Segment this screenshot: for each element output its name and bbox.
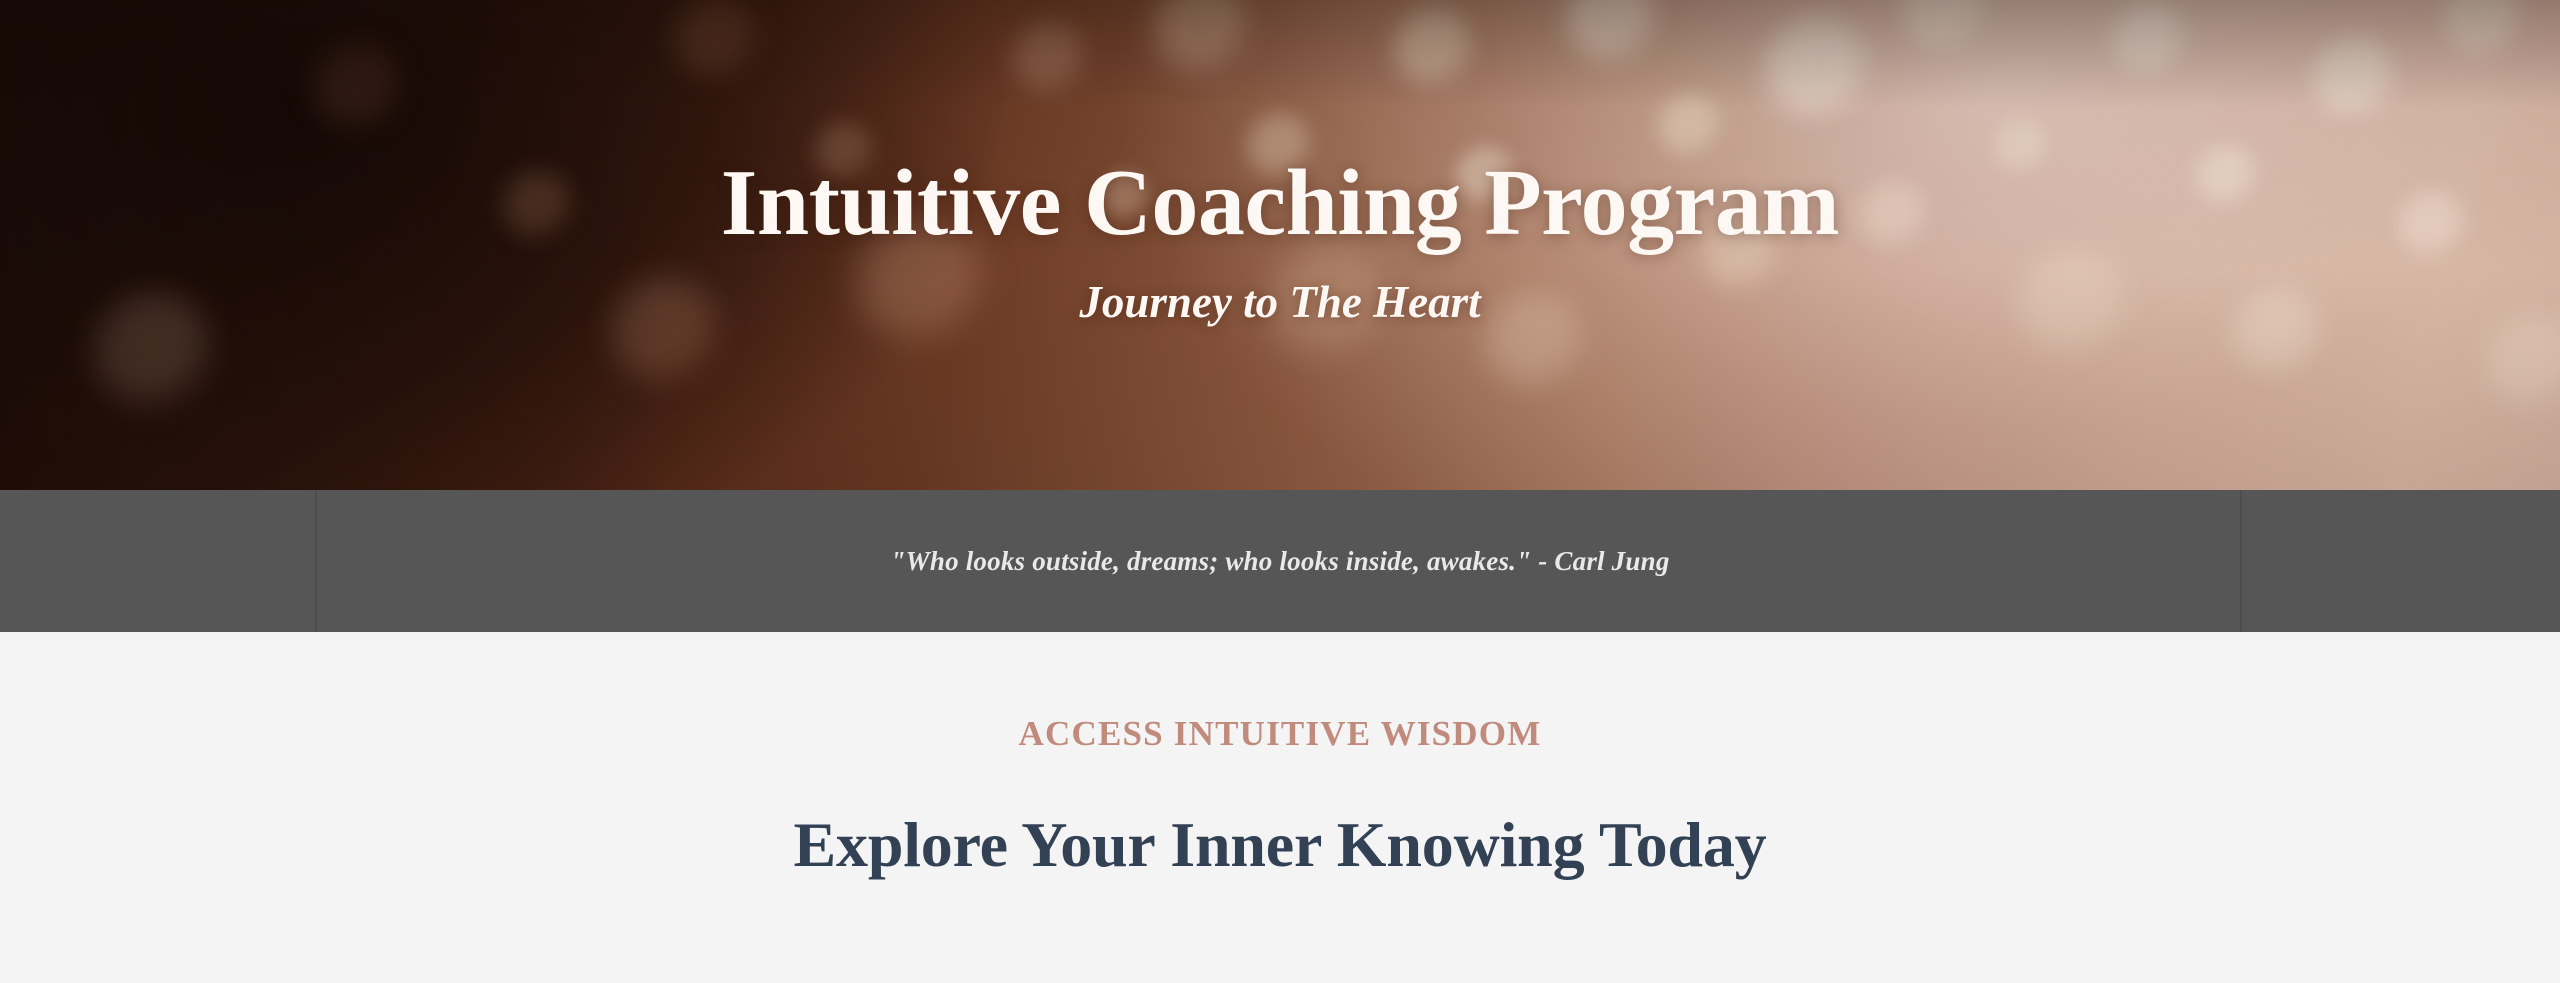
page-subtitle: Journey to The Heart <box>1079 280 1480 325</box>
hero-text-block: Intuitive Coaching Program Journey to Th… <box>0 0 2560 490</box>
intro-section: ACCESS INTUITIVE WISDOM Explore Your Inn… <box>0 632 2560 983</box>
section-headline: Explore Your Inner Knowing Today <box>0 811 2560 878</box>
quote-bar: "Who looks outside, dreams; who looks in… <box>0 490 2560 632</box>
page-title: Intuitive Coaching Program <box>721 156 1839 250</box>
quote-bar-divider-left <box>315 490 317 632</box>
section-eyebrow: ACCESS INTUITIVE WISDOM <box>0 716 2560 751</box>
quote-text: "Who looks outside, dreams; who looks in… <box>890 546 1669 577</box>
quote-bar-divider-right <box>2240 490 2242 632</box>
hero-banner: Intuitive Coaching Program Journey to Th… <box>0 0 2560 490</box>
